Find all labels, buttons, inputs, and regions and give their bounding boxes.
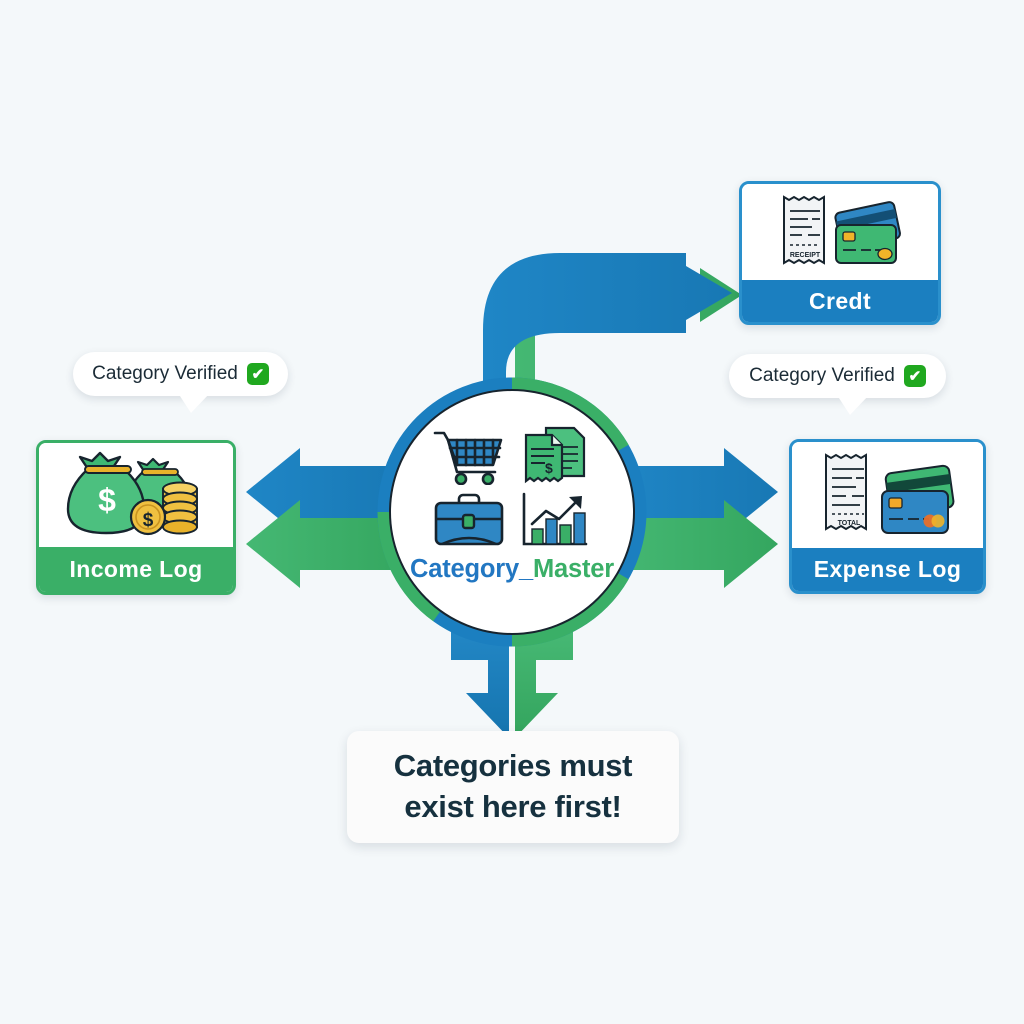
- check-mark-badge: ✔: [904, 365, 926, 387]
- callout-text: Categories must exist here first!: [394, 746, 632, 828]
- card-income[interactable]: $ $ Income Log: [36, 440, 236, 595]
- hub-wordmark-primary: Category_: [410, 555, 533, 583]
- briefcase-icon: [433, 493, 505, 547]
- shopping-cart-icon: [432, 427, 506, 485]
- svg-text:$: $: [98, 482, 116, 518]
- tooltip-right-tail: [837, 395, 869, 415]
- svg-text:RECEIPT: RECEIPT: [790, 252, 821, 259]
- hub-icon-grid: $: [428, 425, 596, 547]
- callout-line-2: exist here first!: [394, 787, 632, 828]
- callout-line-1: Categories must: [394, 746, 632, 787]
- category-master-hub[interactable]: $: [377, 377, 647, 647]
- tooltip-category-verified-right: Category Verified ✔: [729, 354, 946, 398]
- card-income-label: Income Log: [39, 547, 233, 592]
- tooltip-left-tail: [178, 393, 210, 413]
- svg-text:$: $: [143, 510, 154, 531]
- tooltip-left-text: Category Verified: [92, 363, 238, 385]
- card-income-art: $ $: [39, 443, 233, 547]
- card-credit-label: Credt: [742, 280, 938, 322]
- receipt-and-credit-cards-icon: TOTAL: [818, 449, 958, 541]
- card-expense[interactable]: TOTAL Expense Log: [789, 439, 986, 594]
- hub-wordmark: Category_Master: [410, 555, 614, 584]
- callout-categories-must-exist: Categories must exist here first!: [347, 731, 679, 843]
- card-expense-art: TOTAL: [792, 442, 983, 548]
- card-credit-art: RECEIPT: [742, 184, 938, 280]
- svg-text:$: $: [545, 460, 553, 476]
- hub-wordmark-secondary: Master: [533, 555, 614, 583]
- diagram-canvas: $: [0, 0, 1024, 1024]
- card-credit[interactable]: RECEIPT Credt: [739, 181, 941, 325]
- receipt-and-credit-cards-icon: RECEIPT: [776, 191, 904, 273]
- invoice-document-icon: $: [522, 425, 588, 487]
- money-bags-and-coins-icon: $ $: [66, 449, 206, 541]
- svg-text:TOTAL: TOTAL: [837, 520, 860, 527]
- tooltip-category-verified-left: Category Verified ✔: [73, 352, 288, 396]
- card-expense-label: Expense Log: [792, 548, 983, 591]
- bar-chart-growth-icon: [519, 491, 591, 549]
- check-mark-badge: ✔: [247, 363, 269, 385]
- tooltip-right-text: Category Verified: [749, 365, 895, 387]
- hub-disc: $: [389, 389, 635, 635]
